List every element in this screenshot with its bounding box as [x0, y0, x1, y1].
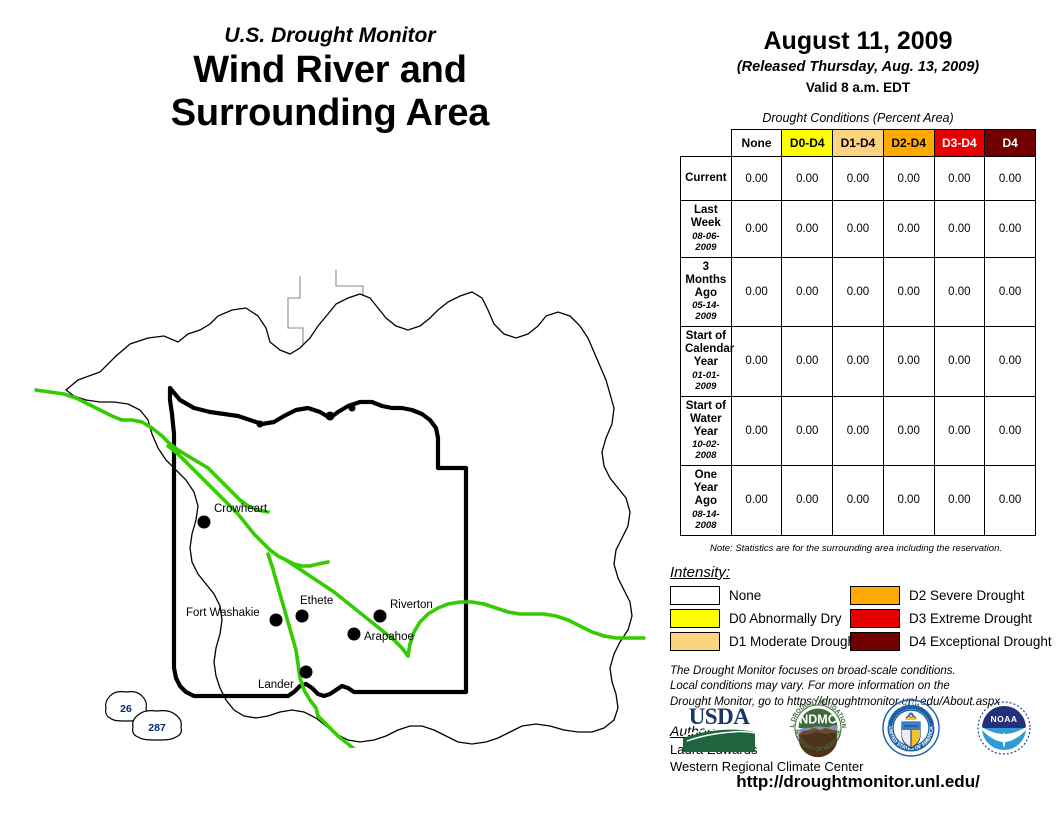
cell-calyear-none: 0.00 — [731, 327, 782, 397]
table-caption: Drought Conditions (Percent Area) — [660, 111, 1056, 125]
row-label-text: One Year Ago — [694, 469, 718, 507]
cell-wateryear-d2d4: 0.00 — [883, 396, 934, 466]
svg-text:Arapahoe: Arapahoe — [364, 631, 414, 643]
cell-current-d4: 0.00 — [985, 157, 1036, 201]
legend-label: D4 Exceptional Drought — [909, 634, 1052, 649]
commerce-seal: DEPARTMENT OF COMMERCE UNITED STATES OF … — [879, 696, 943, 765]
svg-text:Crowheart: Crowheart — [214, 503, 268, 515]
row-label-date: 10-02-2008 — [685, 440, 727, 462]
intensity-legend-title: Intensity: — [670, 564, 1056, 581]
logo-row: USDA — [660, 690, 1056, 770]
cell-calyear-d3d4: 0.00 — [934, 327, 985, 397]
cell-3months-d2d4: 0.00 — [883, 257, 934, 327]
cell-current-none: 0.00 — [731, 157, 782, 201]
column-header-d1-d4: D1-D4 — [833, 130, 884, 157]
row-label-3-months-ago: 3 Months Ago 05-14-2009 — [681, 257, 732, 327]
cell-oneyear-none: 0.00 — [731, 466, 782, 536]
usda-logo: USDA — [681, 700, 757, 761]
row-label-text: Current — [685, 172, 727, 184]
cell-wateryear-d3d4: 0.00 — [934, 396, 985, 466]
cell-lastweek-none: 0.00 — [731, 201, 782, 257]
swatch-d2 — [850, 586, 900, 605]
cell-oneyear-d3d4: 0.00 — [934, 466, 985, 536]
cell-calyear-d2d4: 0.00 — [883, 327, 934, 397]
column-header-d2-d4: D2-D4 — [883, 130, 934, 157]
row-label-date: 08-14-2008 — [685, 510, 727, 532]
swatch-none — [670, 586, 720, 605]
svg-text:287: 287 — [148, 722, 166, 734]
row-label-text: Last Week — [691, 204, 721, 229]
intensity-legend-grid: None D2 Severe Drought D0 Abnormally Dry… — [670, 586, 1056, 651]
svg-text:Ethete: Ethete — [300, 595, 333, 607]
cell-lastweek-d1d4: 0.00 — [833, 201, 884, 257]
ndmc-logo: NATIONAL DROUGHT MITIGATION CENTER UNIVE… — [786, 696, 850, 765]
highway-shield-287-west: 287 — [133, 711, 182, 740]
svg-text:NOAA: NOAA — [990, 714, 1017, 724]
legend-item-d1: D1 Moderate Drought — [670, 632, 850, 651]
cell-oneyear-d0d4: 0.00 — [782, 466, 833, 536]
table-corner-cell — [681, 130, 732, 157]
date-block: August 11, 2009 (Released Thursday, Aug.… — [660, 0, 1056, 95]
legend-item-d3: D3 Extreme Drought — [850, 609, 1040, 628]
row-label-text: 3 Months Ago — [685, 261, 726, 299]
legend-item-d0: D0 Abnormally Dry — [670, 609, 850, 628]
table-row: Start ofWater Year 10-02-2008 0.00 0.00 … — [681, 396, 1036, 466]
cell-calyear-d1d4: 0.00 — [833, 327, 884, 397]
row-label-last-week: Last Week 08-06-2009 — [681, 201, 732, 257]
table-row: 3 Months Ago 05-14-2009 0.00 0.00 0.00 0… — [681, 257, 1036, 327]
cell-current-d0d4: 0.00 — [782, 157, 833, 201]
region-title-line2: Surrounding Area — [171, 92, 489, 134]
cell-oneyear-d4: 0.00 — [985, 466, 1036, 536]
cell-lastweek-d2d4: 0.00 — [883, 201, 934, 257]
legend-label: D3 Extreme Drought — [909, 611, 1032, 626]
site-url[interactable]: http://droughtmonitor.unl.edu/ — [660, 772, 1056, 792]
noaa-logo: NOAA — [972, 696, 1036, 765]
legend-label: None — [729, 588, 761, 603]
column-header-d0-d4: D0-D4 — [782, 130, 833, 157]
row-label-text: Start ofCalendar Year — [685, 330, 734, 368]
cell-current-d3d4: 0.00 — [934, 157, 985, 201]
cell-current-d1d4: 0.00 — [833, 157, 884, 201]
column-header-d3-d4: D3-D4 — [934, 130, 985, 157]
row-label-start-of-water-year: Start ofWater Year 10-02-2008 — [681, 396, 732, 466]
release-date: (Released Thursday, Aug. 13, 2009) — [660, 59, 1056, 75]
legend-label: D1 Moderate Drought — [729, 634, 859, 649]
disclaimer-line-1: The Drought Monitor focuses on broad-sca… — [670, 664, 1056, 680]
report-date: August 11, 2009 — [660, 28, 1056, 54]
row-label-date: 08-06-2009 — [685, 232, 727, 254]
table-row: Current 0.00 0.00 0.00 0.00 0.00 0.00 — [681, 157, 1036, 201]
region-title-line1: Wind River and — [193, 49, 466, 91]
swatch-d4 — [850, 632, 900, 651]
column-header-none: None — [731, 130, 782, 157]
row-label-start-of-calendar-year: Start ofCalendar Year 01-01-2009 — [681, 327, 732, 397]
cell-wateryear-d4: 0.00 — [985, 396, 1036, 466]
right-panel: August 11, 2009 (Released Thursday, Aug.… — [660, 0, 1056, 816]
column-header-d4: D4 — [985, 130, 1036, 157]
cell-lastweek-d4: 0.00 — [985, 201, 1036, 257]
cell-wateryear-none: 0.00 — [731, 396, 782, 466]
cell-3months-none: 0.00 — [731, 257, 782, 327]
cell-calyear-d0d4: 0.00 — [782, 327, 833, 397]
cell-calyear-d4: 0.00 — [985, 327, 1036, 397]
svg-text:Riverton: Riverton — [390, 599, 433, 611]
drought-map[interactable]: 26 287 26 287 — [18, 268, 658, 748]
drought-monitor-supertitle: U.S. Drought Monitor — [0, 24, 660, 47]
row-label-one-year-ago: One Year Ago 08-14-2008 — [681, 466, 732, 536]
legend-label: D0 Abnormally Dry — [729, 611, 842, 626]
table-header-row: None D0-D4 D1-D4 D2-D4 D3-D4 D4 — [681, 130, 1036, 157]
area-outline — [66, 292, 632, 744]
cell-3months-d3d4: 0.00 — [934, 257, 985, 327]
swatch-d0 — [670, 609, 720, 628]
svg-text:Lander: Lander — [258, 679, 294, 691]
cell-3months-d1d4: 0.00 — [833, 257, 884, 327]
title-block: U.S. Drought Monitor Wind River and Surr… — [0, 24, 660, 134]
cell-current-d2d4: 0.00 — [883, 157, 934, 201]
row-label-date: 05-14-2009 — [685, 301, 727, 323]
cell-lastweek-d3d4: 0.00 — [934, 201, 985, 257]
cell-wateryear-d0d4: 0.00 — [782, 396, 833, 466]
row-label-text: Start ofWater Year — [686, 400, 726, 438]
swatch-d3 — [850, 609, 900, 628]
svg-text:26: 26 — [120, 703, 132, 715]
intensity-legend: Intensity: None D2 Severe Drought D0 Abn… — [670, 564, 1056, 651]
legend-item-none: None — [670, 586, 850, 605]
cell-lastweek-d0d4: 0.00 — [782, 201, 833, 257]
cell-3months-d0d4: 0.00 — [782, 257, 833, 327]
legend-label: D2 Severe Drought — [909, 588, 1025, 603]
page-title: Wind River and Surrounding Area — [0, 49, 660, 134]
table-row: Last Week 08-06-2009 0.00 0.00 0.00 0.00… — [681, 201, 1036, 257]
cell-oneyear-d2d4: 0.00 — [883, 466, 934, 536]
legend-item-d2: D2 Severe Drought — [850, 586, 1040, 605]
svg-text:NDMC: NDMC — [799, 712, 837, 726]
row-label-date: 01-01-2009 — [685, 371, 727, 393]
cell-3months-d4: 0.00 — [985, 257, 1036, 327]
legend-item-d4: D4 Exceptional Drought — [850, 632, 1040, 651]
table-row: One Year Ago 08-14-2008 0.00 0.00 0.00 0… — [681, 466, 1036, 536]
cell-oneyear-d1d4: 0.00 — [833, 466, 884, 536]
table-note: Note: Statistics are for the surrounding… — [660, 543, 1056, 554]
swatch-d1 — [670, 632, 720, 651]
cell-wateryear-d1d4: 0.00 — [833, 396, 884, 466]
valid-time: Valid 8 a.m. EDT — [660, 80, 1056, 95]
drought-monitor-page: U.S. Drought Monitor Wind River and Surr… — [0, 0, 1056, 816]
row-label-current: Current — [681, 157, 732, 201]
table-header: None D0-D4 D1-D4 D2-D4 D3-D4 D4 — [681, 130, 1036, 157]
table-body: Current 0.00 0.00 0.00 0.00 0.00 0.00 La… — [681, 157, 1036, 535]
drought-conditions-table: None D0-D4 D1-D4 D2-D4 D3-D4 D4 Current … — [680, 129, 1036, 535]
table-row: Start ofCalendar Year 01-01-2009 0.00 0.… — [681, 327, 1036, 397]
svg-text:Fort Washakie: Fort Washakie — [186, 607, 260, 619]
svg-text:USDA: USDA — [688, 704, 750, 729]
